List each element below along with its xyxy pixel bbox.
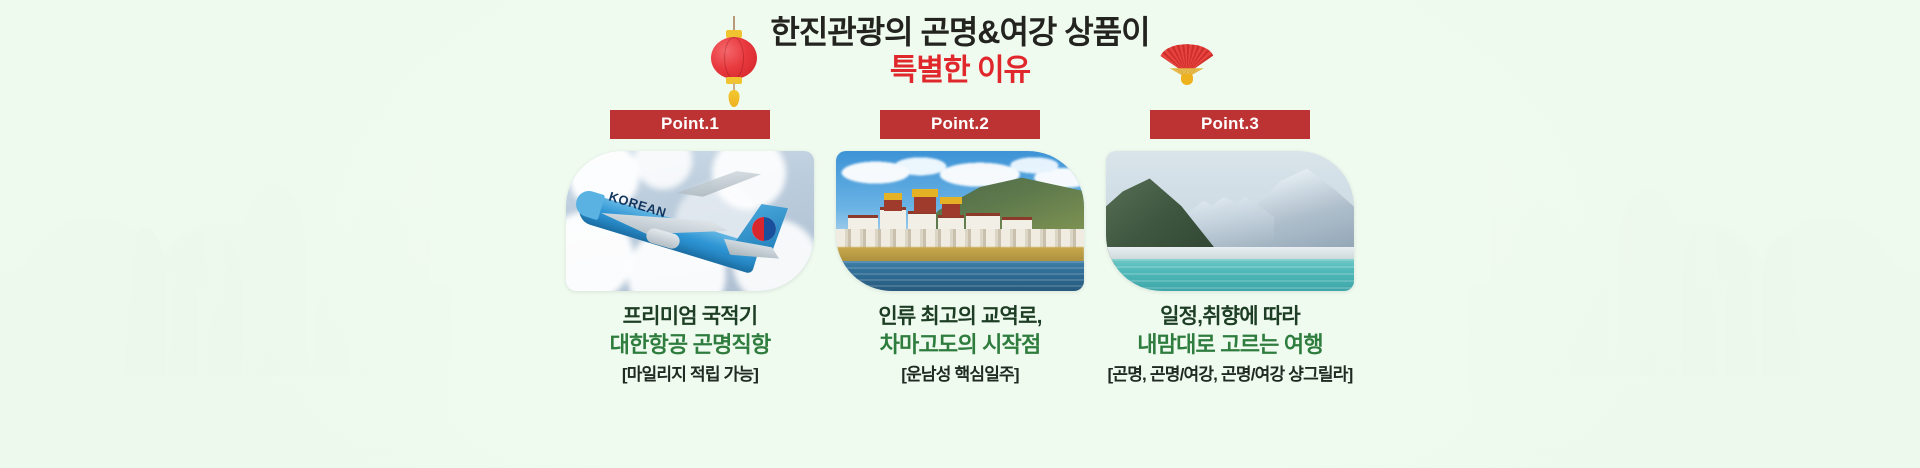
caption-line-3: [곤명, 곤명/여강, 곤명/여강 샹그릴라] bbox=[1108, 364, 1353, 386]
title-line-2: 특별한 이유 bbox=[890, 53, 1030, 89]
page-title: 한진관광의 곤명&여강 상품이 특별한 이유 bbox=[770, 14, 1149, 89]
snow-mountain-turquoise-lake-photo[interactable] bbox=[1106, 151, 1354, 291]
card-caption: 프리미엄 국적기 대한항공 곤명직항 [마일리지 적립 가능] bbox=[610, 304, 771, 386]
title-line-1: 한진관광의 곤명&여강 상품이 bbox=[770, 14, 1149, 52]
turquoise-lake-water bbox=[1106, 259, 1354, 291]
point-card[interactable]: Point.2 bbox=[836, 110, 1084, 386]
card-caption: 일정,취향에 따라 내맘대로 고르는 여행 [곤명, 곤명/여강, 곤명/여강 … bbox=[1108, 304, 1353, 386]
point-card[interactable]: Point.3 일정,취향에 따라 내맘대로 고르는 여행 [곤명, 곤명/여강… bbox=[1106, 110, 1354, 386]
caption-line-2: 차마고도의 시작점 bbox=[878, 331, 1041, 359]
point-badge: Point.3 bbox=[1150, 110, 1310, 139]
caption-line-3: [마일리지 적립 가능] bbox=[610, 364, 771, 386]
caption-line-2: 내맘대로 고르는 여행 bbox=[1108, 331, 1353, 359]
banner-header: 한진관광의 곤명&여강 상품이 특별한 이유 bbox=[0, 14, 1920, 102]
point-badge: Point.1 bbox=[610, 110, 770, 139]
red-folding-fan-icon bbox=[1160, 44, 1214, 88]
caption-line-2: 대한항공 곤명직항 bbox=[610, 331, 771, 359]
caption-line-1: 일정,취향에 따라 bbox=[1108, 304, 1353, 331]
caption-line-3: [운남성 핵심일주] bbox=[878, 364, 1041, 386]
red-lantern-icon bbox=[706, 16, 762, 102]
lake-water bbox=[836, 261, 1084, 291]
point-card[interactable]: Point.1 KOREAN 프리미엄 국적기 대한항공 bbox=[566, 110, 814, 386]
card-caption: 인류 최고의 교역로, 차마고도의 시작점 [운남성 핵심일주] bbox=[878, 304, 1041, 386]
korean-air-airplane-photo[interactable]: KOREAN bbox=[566, 151, 814, 291]
songzanlin-monastery-lake-photo[interactable] bbox=[836, 151, 1084, 291]
caption-line-1: 인류 최고의 교역로, bbox=[878, 304, 1041, 331]
korean-air-logo-icon bbox=[752, 217, 776, 241]
caption-line-1: 프리미엄 국적기 bbox=[610, 304, 771, 331]
point-badge: Point.2 bbox=[880, 110, 1040, 139]
points-card-row: Point.1 KOREAN 프리미엄 국적기 대한항공 bbox=[0, 110, 1920, 386]
promo-banner: 한진관광의 곤명&여강 상품이 특별한 이유 Point.1 KOREA bbox=[0, 0, 1920, 468]
airplane-illustration: KOREAN bbox=[572, 169, 808, 281]
